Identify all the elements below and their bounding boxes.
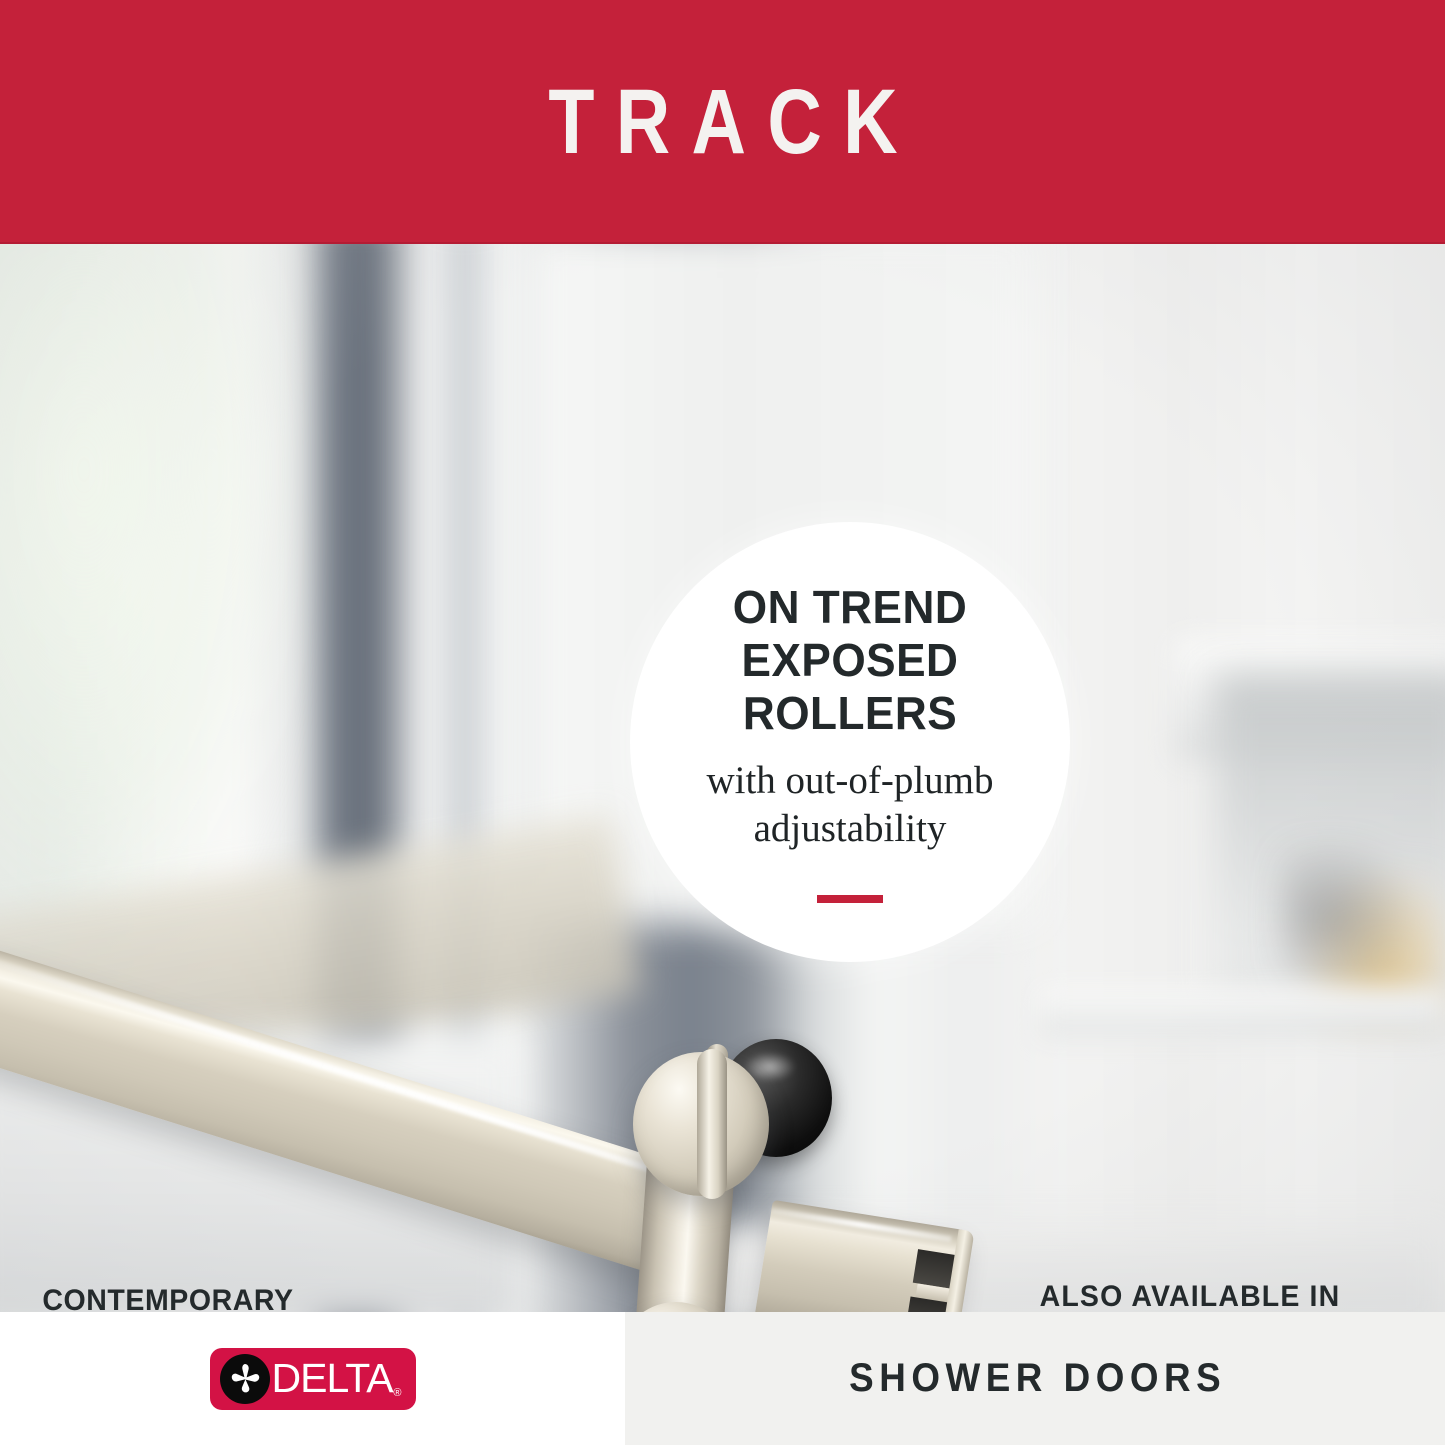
roller-cap-ring <box>697 1049 727 1199</box>
delta-logo[interactable]: DELTA ® <box>210 1348 416 1410</box>
footer-category-label: SHOWER DOORS <box>844 1356 1227 1401</box>
callout-subhead: with out-of-plumb adjustability <box>706 757 993 854</box>
finish-caption-line-1: CONTEMPORARY <box>35 1282 301 1312</box>
callout-headline-line-1: ON TREND <box>639 581 1061 634</box>
product-photo-stage: ON TREND EXPOSED ROLLERS with out-of-plu… <box>0 244 1445 1312</box>
page-title: TRACK <box>527 76 919 168</box>
track-bar <box>0 947 731 1288</box>
footer-category-panel: SHOWER DOORS <box>625 1312 1445 1445</box>
callout-subhead-line-1: with out-of-plumb <box>706 757 993 805</box>
registered-trademark-icon: ® <box>393 1387 401 1399</box>
callout-red-divider <box>817 895 883 903</box>
delta-wordmark: DELTA <box>272 1358 393 1399</box>
channel-rail <box>753 1200 971 1312</box>
product-finish-caption: CONTEMPORARY TRACK IN BRUSHED NICKEL <box>35 1282 301 1312</box>
feature-callout-badge: ON TREND EXPOSED ROLLERS with out-of-plu… <box>630 522 1070 962</box>
marketing-image: TRACK <box>0 0 1445 1445</box>
callout-headline-line-2: EXPOSED ROLLERS <box>639 634 1061 741</box>
delta-triangle-icon <box>220 1354 270 1404</box>
available-finishes-block: ALSO AVAILABLE IN CHROME BRONZE MATTE BL… <box>960 1280 1420 1312</box>
footer-brand-panel: DELTA ® <box>0 1312 625 1445</box>
callout-subhead-line-2: adjustability <box>706 805 993 853</box>
available-finishes-heading: ALSO AVAILABLE IN <box>972 1280 1409 1312</box>
footer: DELTA ® SHOWER DOORS <box>0 1312 1445 1445</box>
callout-headline: ON TREND EXPOSED ROLLERS <box>639 581 1061 741</box>
header-banner: TRACK <box>0 0 1445 244</box>
